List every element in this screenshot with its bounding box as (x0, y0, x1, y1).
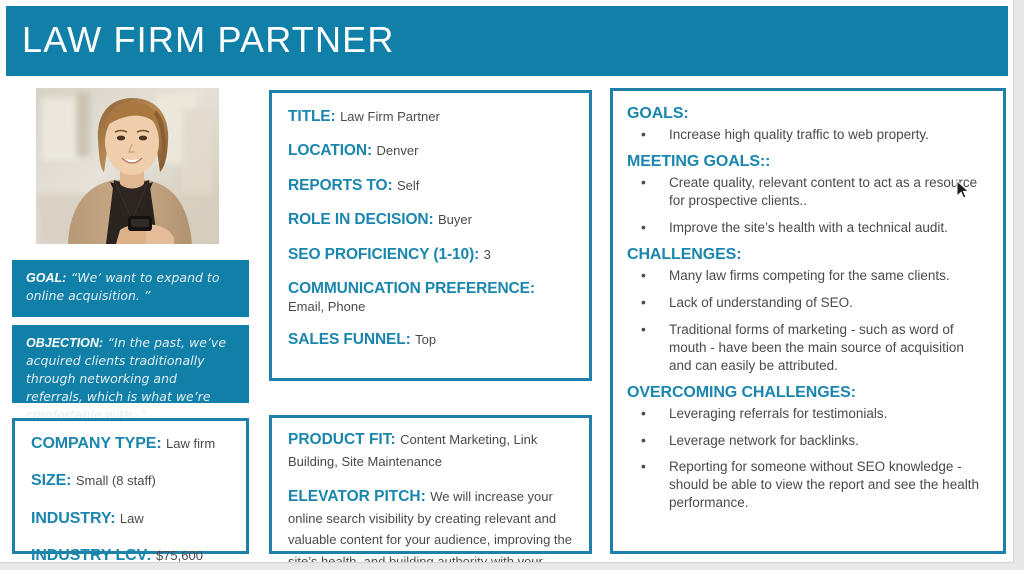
list-item: Improve the site’s health with a technic… (627, 219, 987, 237)
field-label: SIZE: (31, 472, 71, 489)
field-label: REPORTS TO: (288, 177, 393, 194)
list-item: Many law firms competing for the same cl… (627, 267, 987, 285)
field-label: PRODUCT FIT: (288, 431, 396, 448)
meeting-goals-list: Create quality, relevant content to act … (627, 174, 987, 237)
field-value: Email, Phone (288, 299, 575, 316)
persona-photo (36, 88, 219, 244)
list-item: Create quality, relevant content to act … (627, 174, 987, 210)
field-seo-proficiency: SEO PROFICIENCY (1-10): 3 (288, 245, 575, 265)
profile-details-box: TITLE: Law Firm Partner LOCATION: Denver… (269, 90, 592, 381)
field-label: SEO PROFICIENCY (1-10): (288, 246, 479, 263)
page-title: LAW FIRM PARTNER (22, 19, 395, 61)
list-item: Traditional forms of marketing - such as… (627, 321, 987, 375)
section-title: GOALS: (627, 105, 987, 123)
section-title: MEETING GOALS:: (627, 153, 987, 171)
field-label: INDUSTRY LCV: (31, 547, 152, 563)
field-value: Denver (377, 143, 419, 158)
field-value: Top (415, 332, 436, 347)
goals-list: Increase high quality traffic to web pro… (627, 126, 987, 144)
objection-quote-box: OBJECTION: “In the past, we’ve acquired … (12, 325, 249, 403)
field-product-fit: PRODUCT FIT: Content Marketing, Link Bui… (288, 429, 575, 472)
section-overcoming-challenges: OVERCOMING CHALLENGES: Leveraging referr… (627, 384, 987, 513)
field-label: ELEVATOR PITCH: (288, 488, 426, 505)
field-location: LOCATION: Denver (288, 141, 575, 161)
company-info-box: COMPANY TYPE: Law firm SIZE: Small (8 st… (12, 418, 249, 554)
product-fit-box: PRODUCT FIT: Content Marketing, Link Bui… (269, 415, 592, 554)
field-value: 3 (484, 247, 491, 262)
field-industry: INDUSTRY: Law (31, 509, 232, 529)
section-challenges: CHALLENGES: Many law firms competing for… (627, 246, 987, 375)
section-meeting-goals: MEETING GOALS:: Create quality, relevant… (627, 153, 987, 237)
field-value: Small (8 staff) (76, 473, 156, 488)
field-value: Law Firm Partner (340, 109, 440, 124)
list-item: Leverage network for backlinks. (627, 432, 987, 450)
field-industry-lcv: INDUSTRY LCV: $75,600 (31, 546, 232, 563)
field-label: ROLE IN DECISION: (288, 211, 434, 228)
slide-header: LAW FIRM PARTNER (6, 6, 1008, 76)
field-label: COMMUNICATION PREFERENCE: (288, 279, 575, 299)
field-communication-preference: COMMUNICATION PREFERENCE: Email, Phone (288, 279, 575, 315)
list-item: Increase high quality traffic to web pro… (627, 126, 987, 144)
field-label: TITLE: (288, 108, 336, 125)
slide-page: LAW FIRM PARTNER (0, 0, 1014, 563)
field-label: COMPANY TYPE: (31, 435, 162, 452)
goals-challenges-panel: GOALS: Increase high quality traffic to … (610, 88, 1006, 554)
field-reports-to: REPORTS TO: Self (288, 176, 575, 196)
list-item: Reporting for someone without SEO knowle… (627, 458, 987, 512)
field-value: Law (120, 511, 144, 526)
goal-quote-box: GOAL: “We’ want to expand to online acqu… (12, 260, 249, 317)
field-label: SALES FUNNEL: (288, 331, 411, 348)
field-value: Self (397, 178, 419, 193)
section-title: OVERCOMING CHALLENGES: (627, 384, 987, 402)
list-item: Leveraging referrals for testimonials. (627, 405, 987, 423)
field-company-type: COMPANY TYPE: Law firm (31, 434, 232, 454)
field-elevator-pitch: ELEVATOR PITCH: We will increase your on… (288, 486, 575, 563)
challenges-list: Many law firms competing for the same cl… (627, 267, 987, 375)
field-label: LOCATION: (288, 142, 372, 159)
goal-label: GOAL: (26, 271, 66, 285)
section-goals: GOALS: Increase high quality traffic to … (627, 105, 987, 144)
field-size: SIZE: Small (8 staff) (31, 471, 232, 491)
field-value: Buyer (438, 212, 472, 227)
overcoming-challenges-list: Leveraging referrals for testimonials. L… (627, 405, 987, 513)
field-title: TITLE: Law Firm Partner (288, 107, 575, 127)
field-role-in-decision: ROLE IN DECISION: Buyer (288, 210, 575, 230)
list-item: Lack of understanding of SEO. (627, 294, 987, 312)
persona-photo-image (36, 88, 219, 244)
field-value: Law firm (166, 436, 215, 451)
field-sales-funnel: SALES FUNNEL: Top (288, 330, 575, 350)
field-label: INDUSTRY: (31, 510, 115, 527)
section-title: CHALLENGES: (627, 246, 987, 264)
field-value: $75,600 (156, 548, 203, 563)
objection-label: OBJECTION: (26, 336, 103, 350)
